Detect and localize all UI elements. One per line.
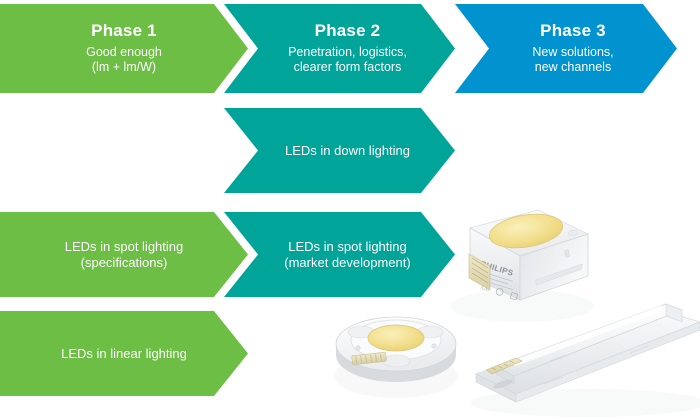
phase-banner-1[interactable]: Phase 1 Good enough (lm + lm/W) [0, 4, 248, 93]
bar-down-lighting-phase-2-text: LEDs in down lighting [263, 143, 416, 159]
phase-banner-3-subtitle-line-2: new channels [532, 60, 613, 75]
phase-banner-2-text: Phase 2 Penetration, logistics, clearer … [266, 21, 413, 75]
bar-spot-lighting-phase-1-label-line-1: LEDs in spot lighting [65, 239, 184, 255]
diagram-canvas: Phase 1 Good enough (lm + lm/W) Phase 2 … [0, 0, 700, 420]
phase-banner-2[interactable]: Phase 2 Penetration, logistics, clearer … [224, 4, 455, 93]
product-round-led-module [334, 317, 458, 398]
product-linear-led-module [470, 304, 700, 417]
bar-spot-lighting-phase-2-label-line-2: (market development) [284, 255, 410, 271]
bar-spot-lighting-phase-2-text: LEDs in spot lighting (market developmen… [262, 239, 416, 271]
phase-banner-2-subtitle-line-2: clearer form factors [288, 60, 407, 75]
phase-banner-1-subtitle-line-2: (lm + lm/W) [86, 60, 162, 75]
bar-linear-lighting-phase-1-label: LEDs in linear lighting [61, 346, 187, 362]
round-module-connector [352, 352, 387, 365]
phase-banner-1-subtitle-line-1: Good enough [86, 45, 162, 60]
bar-linear-lighting-phase-1-text: LEDs in linear lighting [55, 346, 193, 362]
product-square-led-module: PHILIPS CE [450, 209, 594, 322]
square-module-brand-label: PHILIPS [479, 259, 514, 278]
phase-banner-3-title: Phase 3 [532, 21, 613, 42]
bar-spot-lighting-phase-1-label-line-2: (specifications) [65, 255, 184, 271]
linear-module-connector [486, 358, 522, 390]
phase-banner-1-text: Phase 1 Good enough (lm + lm/W) [80, 21, 168, 75]
phase-banner-3[interactable]: Phase 3 New solutions, new channels [455, 4, 677, 93]
bar-spot-lighting-phase-2-label-line-1: LEDs in spot lighting [284, 239, 410, 255]
bar-down-lighting-phase-2-label: LEDs in down lighting [285, 143, 410, 159]
bar-linear-lighting-phase-1[interactable]: LEDs in linear lighting [0, 311, 248, 396]
bar-spot-lighting-phase-1[interactable]: LEDs in spot lighting (specifications) [0, 212, 248, 297]
phase-banner-2-subtitle-line-1: Penetration, logistics, [288, 45, 407, 60]
bar-spot-lighting-phase-1-text: LEDs in spot lighting (specifications) [59, 239, 190, 271]
phase-banner-3-text: Phase 3 New solutions, new channels [512, 21, 619, 75]
svg-text:CE: CE [480, 284, 491, 294]
bar-down-lighting-phase-2[interactable]: LEDs in down lighting [224, 108, 455, 193]
bar-spot-lighting-phase-2[interactable]: LEDs in spot lighting (market developmen… [224, 212, 455, 297]
phase-banner-2-title: Phase 2 [288, 21, 407, 42]
phase-banner-1-title: Phase 1 [86, 21, 162, 42]
square-module-connector [469, 254, 490, 290]
phase-banner-3-subtitle-line-1: New solutions, [532, 45, 613, 60]
